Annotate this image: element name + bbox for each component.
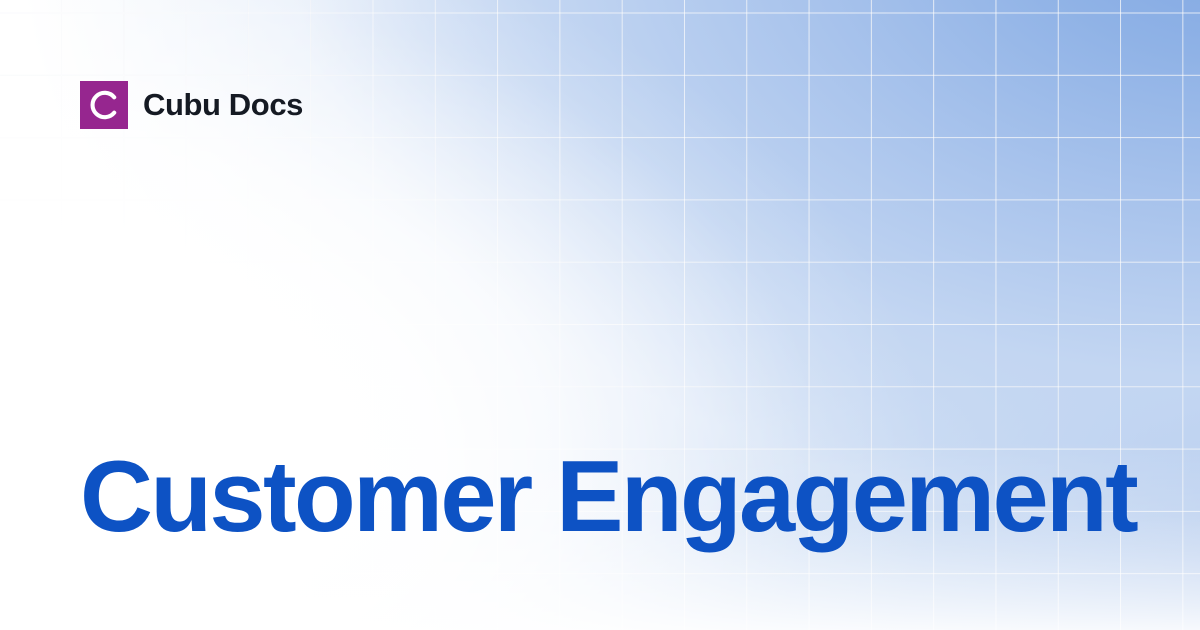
page-title: Customer Engagement (80, 441, 1140, 553)
brand-lockup: Cubu Docs (80, 81, 303, 129)
brand-name: Cubu Docs (143, 81, 303, 129)
share-banner: Cubu Docs Customer Engagement (0, 0, 1200, 630)
letter-c-logo-icon (80, 81, 128, 129)
